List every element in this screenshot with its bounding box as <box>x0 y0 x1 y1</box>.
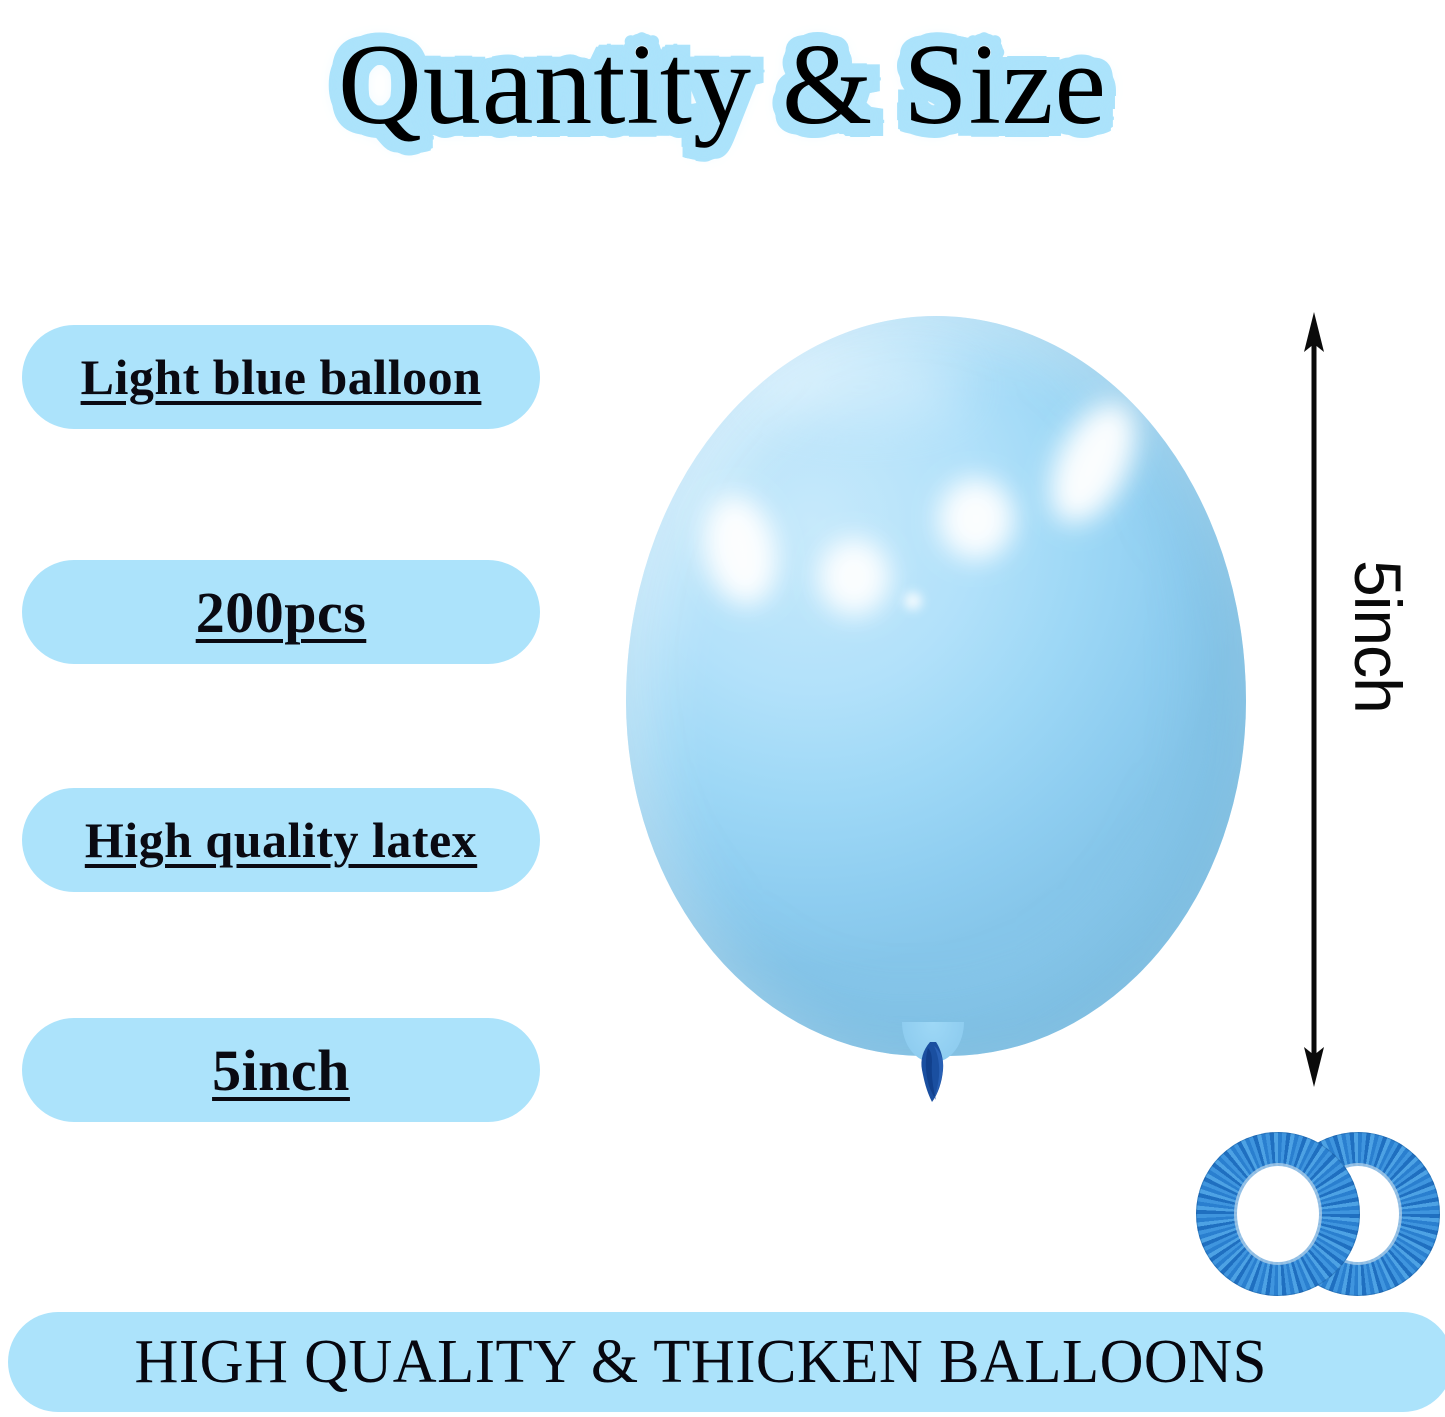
feature-pill-color: Light blue balloon <box>22 325 540 429</box>
feature-pill-quantity: 200pcs <box>22 560 540 664</box>
balloon-highlight-3 <box>938 478 1014 560</box>
ribbon-spool-left <box>1196 1132 1360 1296</box>
balloon-sheen <box>756 352 966 422</box>
page-title: Quantity & Size <box>0 6 1445 166</box>
balloon-highlight-5 <box>904 592 922 610</box>
balloon-knot-icon <box>916 1042 950 1106</box>
feature-label: 200pcs <box>196 579 367 646</box>
balloon-highlight-1 <box>693 488 787 613</box>
feature-pill-size: 5inch <box>22 1018 540 1122</box>
bottom-banner-text: HIGH QUALITY & THICKEN BALLOONS <box>134 1327 1266 1398</box>
product-infographic: Quantity & Size Light blue balloon 200pc… <box>0 0 1445 1417</box>
balloon-highlight-4 <box>1033 389 1153 537</box>
balloon-highlight-2 <box>818 538 890 616</box>
balloon-image <box>626 316 1266 1116</box>
feature-label: High quality latex <box>85 811 477 869</box>
balloon-body <box>626 316 1246 1056</box>
page-title-text: Quantity & Size <box>338 25 1107 147</box>
bottom-banner: HIGH QUALITY & THICKEN BALLOONS <box>8 1312 1445 1412</box>
feature-pill-material: High quality latex <box>22 788 540 892</box>
feature-label: 5inch <box>212 1037 350 1104</box>
dimension-label: 5inch <box>1338 560 1418 820</box>
ribbon-spools <box>1196 1128 1442 1300</box>
feature-label: Light blue balloon <box>81 348 482 406</box>
dimension-label-text: 5inch <box>1340 560 1416 713</box>
